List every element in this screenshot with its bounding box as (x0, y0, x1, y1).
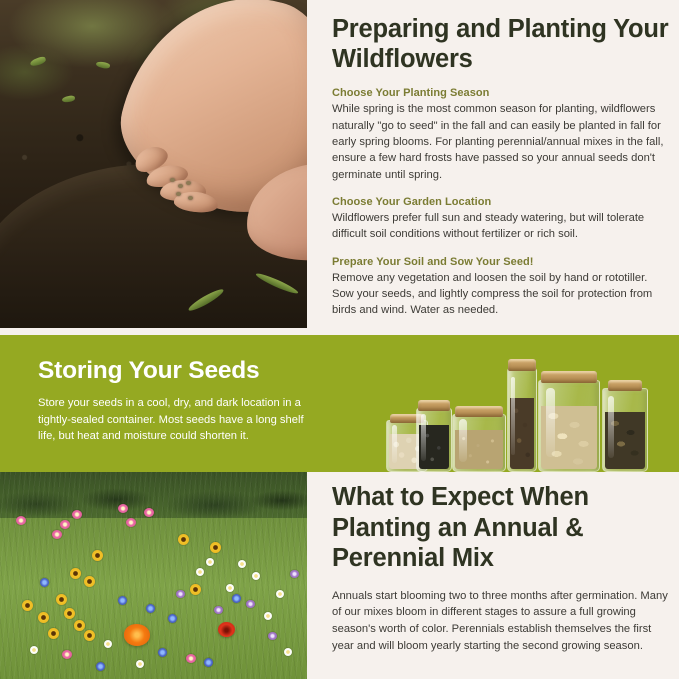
wildflower-bloom (158, 648, 167, 657)
wildflower-bloom (72, 510, 82, 519)
wildflower-bloom (56, 594, 67, 605)
wildflower-bloom (136, 660, 144, 668)
expect-body: Annuals start blooming two to three mont… (332, 588, 669, 654)
wildflower-bloom (206, 558, 214, 566)
wildflower-bloom (92, 550, 103, 561)
wildflower-bloom (104, 640, 112, 648)
meadow-grass-texture (0, 472, 307, 679)
glass-highlight (546, 388, 554, 456)
wildflower-bloom (238, 560, 246, 568)
wildflower-bloom (62, 650, 72, 659)
storing-copy: Storing Your Seeds Store your seeds in a… (38, 357, 313, 445)
wildflower-bloom (290, 570, 299, 578)
wildflower-bloom (30, 646, 38, 654)
glass-highlight (511, 377, 515, 455)
storing-body: Store your seeds in a cool, dry, and dar… (38, 395, 313, 444)
page-title: Preparing and Planting Your Wildflowers (332, 14, 671, 74)
wildflower-bloom (118, 504, 128, 513)
section-storing-your-seeds: Storing Your Seeds Store your seeds in a… (0, 335, 679, 472)
cork-lid-icon (455, 406, 503, 417)
body-planting-season: While spring is the most common season f… (332, 101, 671, 183)
wildflower-bloom (190, 584, 201, 595)
jar-brown-tall (507, 359, 537, 472)
glass-highlight (392, 425, 398, 463)
seed (186, 181, 191, 185)
seed-jars-photo (386, 347, 671, 472)
wildflower-bloom (176, 590, 185, 598)
wildflower-bloom (204, 658, 213, 667)
wildflower-bloom (96, 662, 105, 671)
wildflower-bloom (232, 594, 241, 603)
jar-glass (452, 414, 506, 472)
body-prepare-soil: Remove any vegetation and loosen the soi… (332, 270, 671, 319)
wildflower-bloom (118, 596, 127, 605)
wildflower-bloom (226, 584, 234, 592)
jar-glass (416, 408, 452, 472)
wildflower-bloom (40, 578, 49, 587)
jar-glass (538, 380, 600, 472)
wildflower-bloom (52, 530, 62, 539)
wildflower-bloom (178, 534, 189, 545)
wildflower-bloom (70, 568, 81, 579)
jar-tan-grain (452, 406, 506, 472)
wildflower-bloom (196, 568, 204, 576)
cork-lid-icon (418, 400, 450, 411)
wildflower-bloom (126, 518, 136, 527)
section-what-to-expect: What to Expect When Planting an Annual &… (0, 472, 679, 679)
cork-lid-icon (508, 359, 536, 371)
jar-black-seeds (416, 400, 452, 472)
wildflower-bloom (168, 614, 177, 623)
wildflower-bloom (16, 516, 26, 525)
wildflower-bloom (60, 520, 70, 529)
subheading-garden-location: Choose Your Garden Location (332, 196, 671, 208)
infographic-page: Preparing and Planting Your Wildflowers … (0, 0, 679, 679)
soil-planting-photo (0, 0, 307, 328)
subheading-planting-season: Choose Your Planting Season (332, 87, 671, 99)
wildflower-bloom (218, 622, 235, 637)
wildflower-bloom (284, 648, 292, 656)
storing-heading: Storing Your Seeds (38, 357, 313, 384)
wildflower-bloom (64, 608, 75, 619)
planting-copy: Preparing and Planting Your Wildflowers … (332, 0, 679, 335)
wildflower-bloom (276, 590, 284, 598)
wildflower-bloom (38, 612, 49, 623)
wildflower-meadow-photo (0, 472, 307, 679)
wildflower-bloom (214, 606, 223, 614)
jar-large-pale-seeds (538, 371, 600, 472)
glass-highlight (459, 419, 466, 462)
wildflower-bloom (144, 508, 154, 517)
jar-glass (602, 388, 648, 472)
wildflower-bloom (74, 620, 85, 631)
seed (170, 178, 175, 182)
wildflower-bloom (84, 576, 95, 587)
seed (188, 196, 193, 200)
wildflower-bloom (264, 612, 272, 620)
wildflower-bloom (48, 628, 59, 639)
wildflower-bloom (246, 600, 255, 608)
subheading-prepare-soil: Prepare Your Soil and Sow Your Seed! (332, 256, 671, 268)
wildflower-bloom (124, 624, 150, 646)
wildflower-bloom (84, 630, 95, 641)
wildflower-bloom (146, 604, 155, 613)
wildflower-bloom (268, 632, 277, 640)
wildflower-bloom (22, 600, 33, 611)
section-preparing-and-planting: Preparing and Planting Your Wildflowers … (0, 0, 679, 335)
body-garden-location: Wildflowers prefer full sun and steady w… (332, 210, 671, 243)
glass-highlight (608, 396, 614, 458)
expect-heading: What to Expect When Planting an Annual &… (332, 482, 669, 574)
wildflower-bloom (252, 572, 260, 580)
seed (178, 184, 183, 188)
cork-lid-icon (541, 371, 597, 383)
wildflower-bloom (186, 654, 196, 663)
jar-striped-sunflower (602, 380, 648, 472)
cork-lid-icon (608, 380, 642, 391)
jar-glass (507, 368, 537, 472)
wildflower-bloom (210, 542, 221, 553)
seed (176, 192, 181, 196)
expect-copy: What to Expect When Planting an Annual &… (332, 472, 679, 679)
glass-highlight (421, 414, 426, 461)
